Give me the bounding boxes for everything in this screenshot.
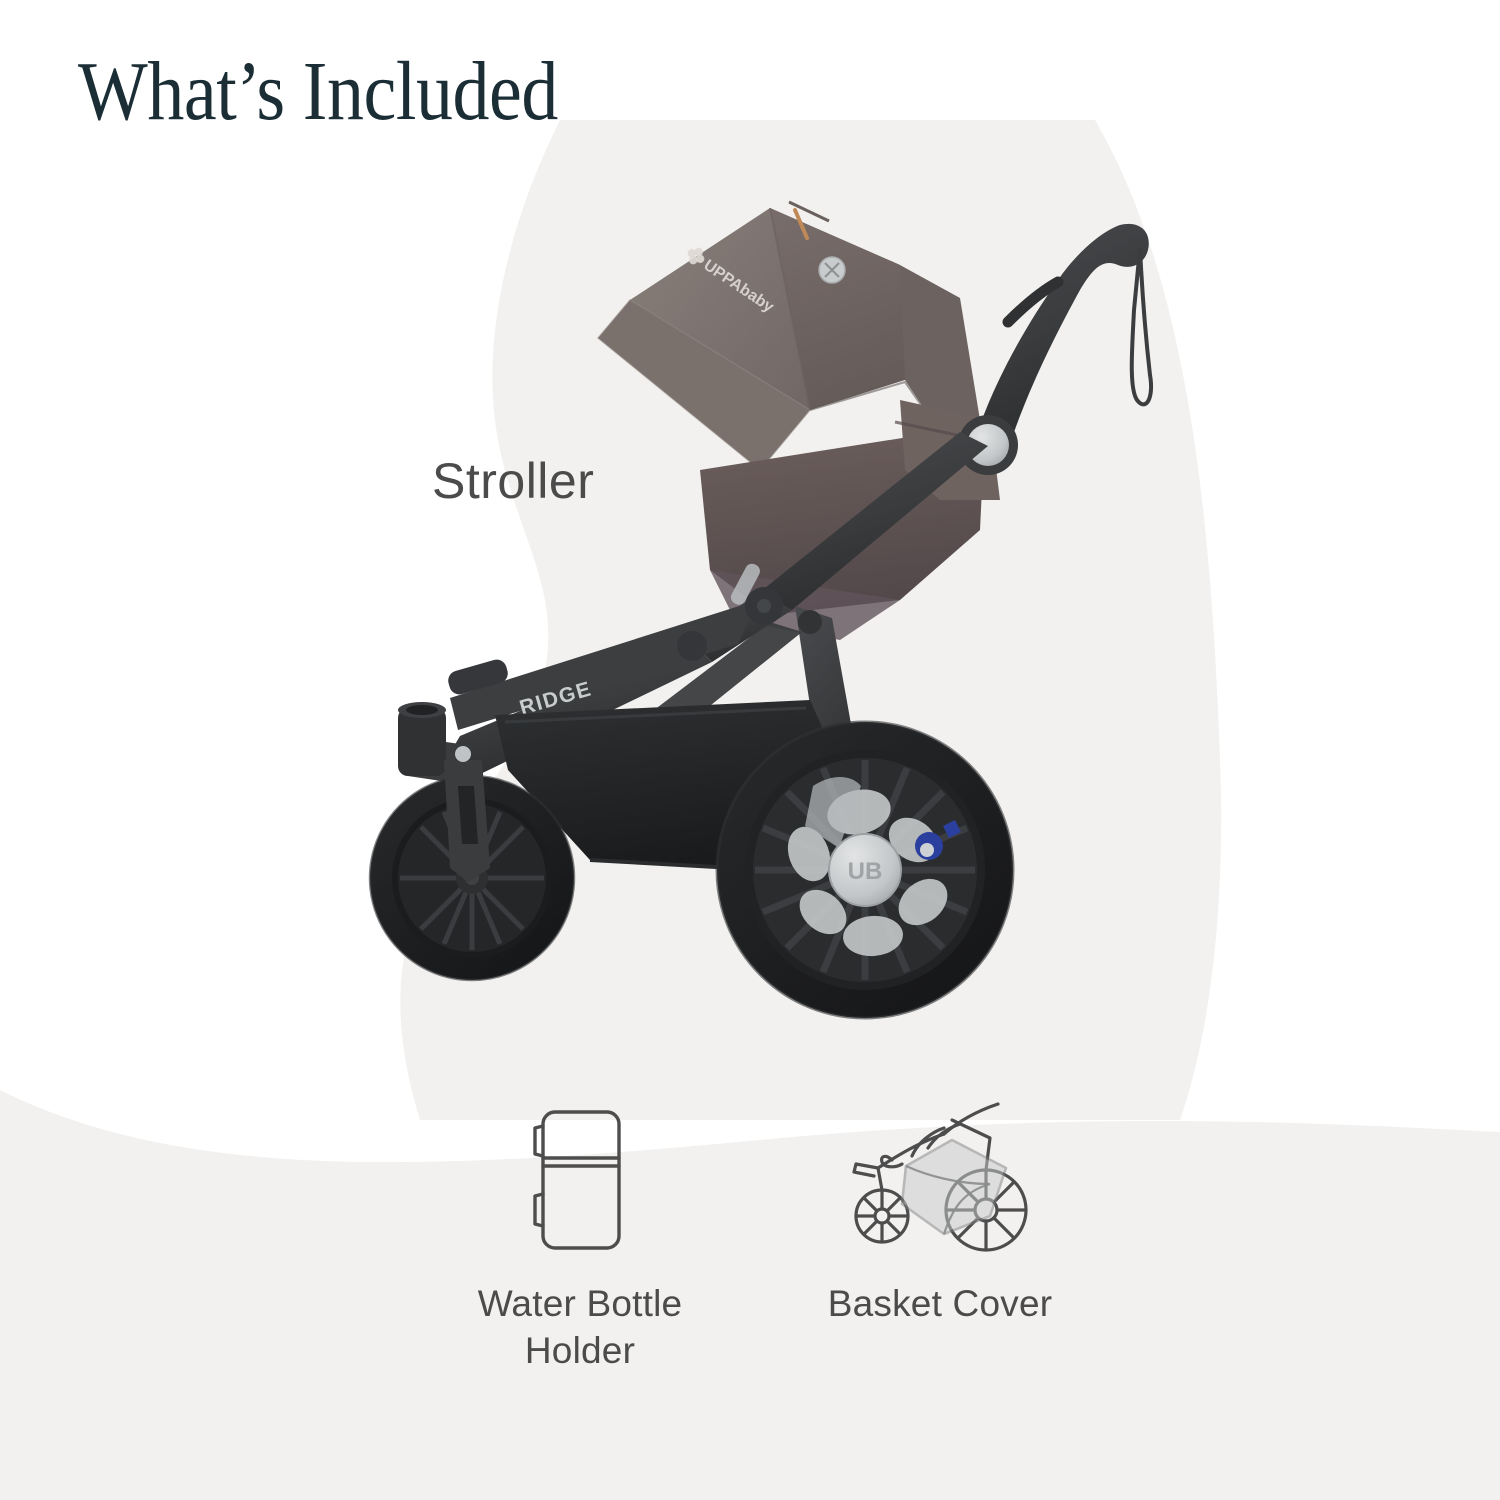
canopy-snap-button xyxy=(819,257,845,283)
wheel-hub-brandmark: UB xyxy=(848,858,883,885)
whats-included-infographic: What’s Included Stroller xyxy=(0,0,1500,1500)
rear-wheel: UB xyxy=(717,722,1013,1018)
accessory-label-line: Water Bottle xyxy=(400,1280,760,1327)
accessory-label-line: Basket Cover xyxy=(760,1280,1120,1327)
basket-cover-icon xyxy=(840,1098,1040,1258)
accessory-label: Basket Cover xyxy=(760,1280,1120,1327)
water-bottle-holder-icon xyxy=(495,1098,665,1258)
wrist-strap xyxy=(1132,248,1151,404)
accessory-basket-cover: Basket Cover xyxy=(760,1098,1120,1327)
accessory-label-line: Holder xyxy=(400,1327,760,1374)
stroller-product-image: UPPAbaby xyxy=(340,170,1160,1050)
handlebar xyxy=(958,224,1151,475)
accessory-water-bottle-holder: Water Bottle Holder xyxy=(400,1098,760,1375)
accessory-label: Water Bottle Holder xyxy=(400,1280,760,1375)
water-bottle-holder-attachment xyxy=(398,702,446,776)
